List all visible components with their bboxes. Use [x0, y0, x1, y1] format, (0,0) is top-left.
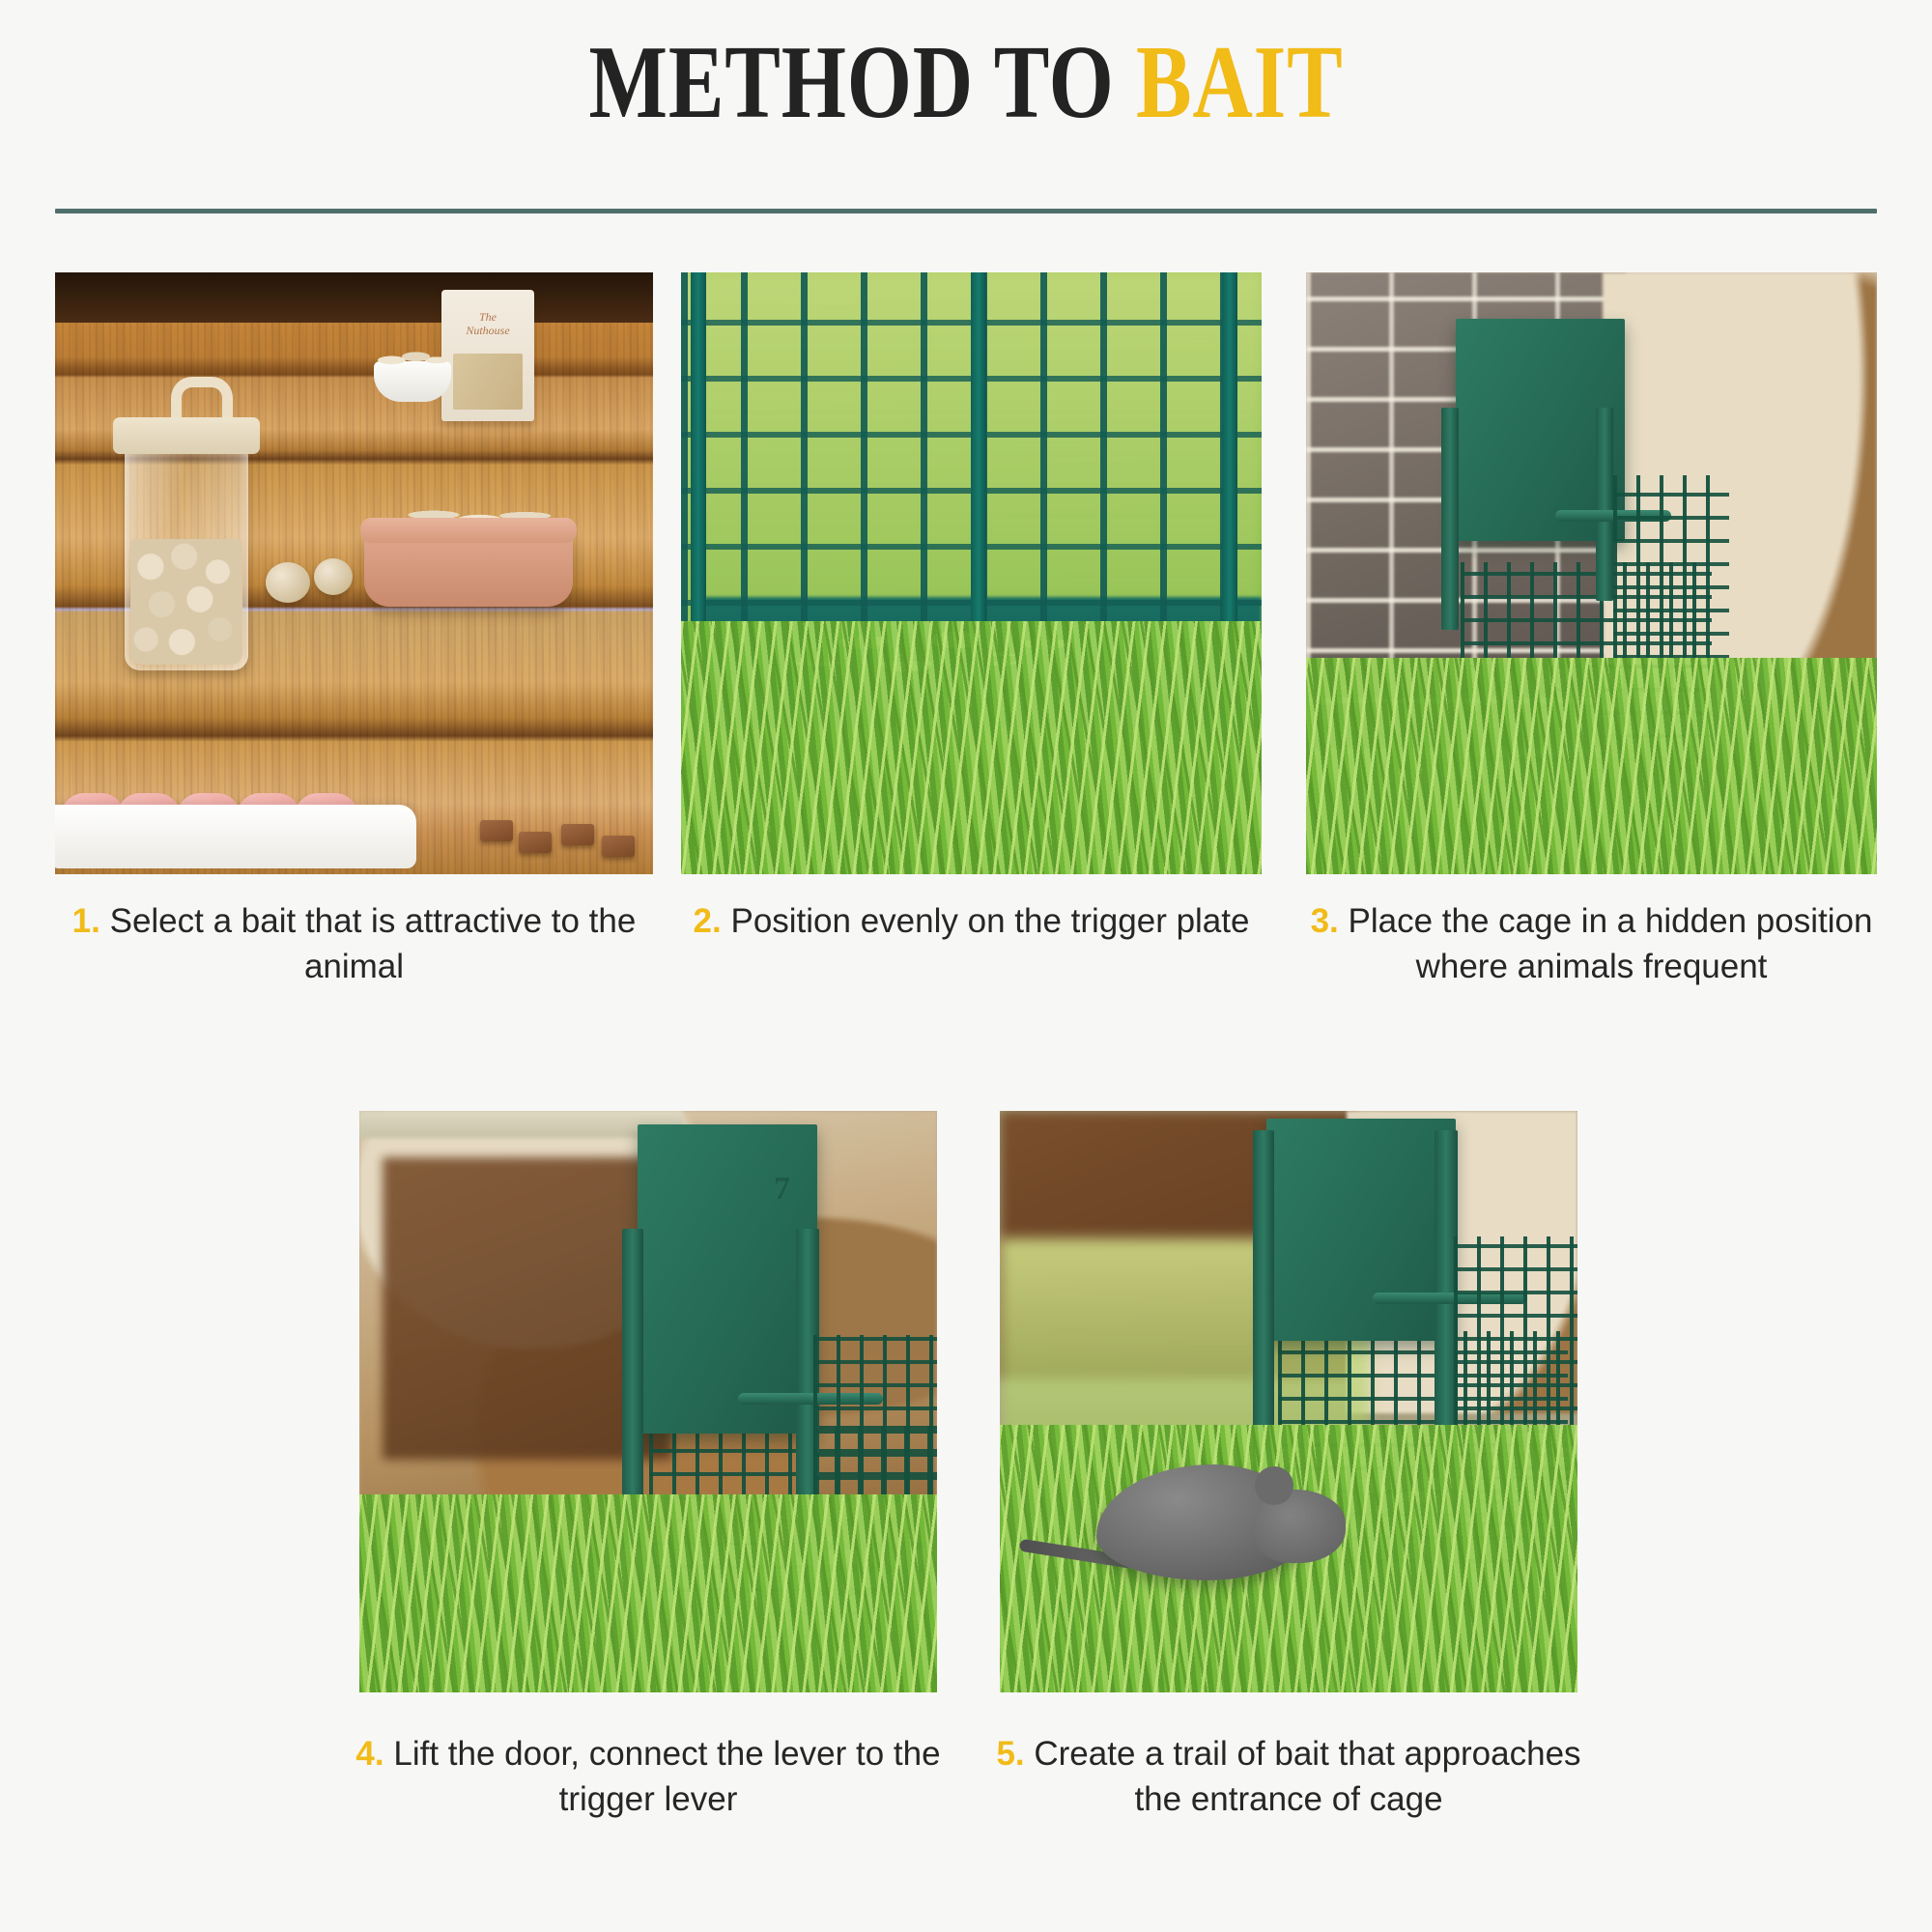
nut-pouch: TheNuthouse: [441, 290, 534, 421]
step-image-5: [1000, 1111, 1577, 1692]
step-text-1: Select a bait that is attractive to the …: [110, 902, 637, 985]
cage-side-mesh: [1613, 475, 1729, 659]
rat-ear: [1255, 1466, 1293, 1505]
terracotta-bowl: [364, 531, 573, 607]
nut-pouch-label: TheNuthouse: [441, 311, 534, 338]
step-image-2: [681, 272, 1262, 874]
step-image-1: TheNuthouse: [55, 272, 653, 874]
step-image-4: 7: [359, 1111, 937, 1692]
step-image-3: [1306, 272, 1877, 874]
photo-bait-trail: [1000, 1111, 1577, 1692]
trap-door-panel: [1266, 1119, 1456, 1341]
top-shadow: [55, 272, 653, 323]
page-title-primary: METHOD TO: [589, 25, 1115, 140]
step-caption-1: 1. Select a bait that is attractive to t…: [55, 898, 653, 990]
glass-jar: [125, 446, 248, 670]
loose-nut: [266, 562, 310, 603]
grass-blades: [681, 621, 1262, 874]
page-title-accent: BAIT: [1136, 25, 1343, 140]
foreground-grass: [1306, 658, 1877, 874]
chocolate-piece: [561, 824, 594, 845]
jar-lid: [113, 417, 260, 454]
door-rail: [1441, 408, 1459, 630]
step-caption-4: 4. Lift the door, connect the lever to t…: [330, 1731, 966, 1823]
header-divider: [55, 209, 1877, 213]
loose-nut: [314, 558, 353, 595]
foreground-grass: [681, 621, 1262, 874]
step-caption-5: 5. Create a trail of bait that approache…: [990, 1731, 1587, 1823]
step-number-4: 4.: [355, 1735, 384, 1773]
foreground-grass: [359, 1494, 937, 1692]
step-text-2: Position evenly on the trigger plate: [730, 902, 1249, 940]
chocolate-piece: [480, 820, 513, 841]
wall-ledge: [359, 1111, 683, 1138]
white-tray: [55, 805, 416, 868]
nut-pouch-window: [453, 354, 523, 410]
step-number-3: 3.: [1311, 902, 1339, 940]
bowl-nuts: [378, 344, 447, 367]
step-number-1: 1.: [72, 902, 100, 940]
bowl-rim: [360, 518, 577, 543]
step-caption-3: 3. Place the cage in a hidden position w…: [1306, 898, 1877, 990]
chocolate-piece: [602, 836, 635, 857]
photo-hidden-placement: [1306, 272, 1877, 874]
photo-bait-selection: TheNuthouse: [55, 272, 653, 874]
jar-pistachios: [130, 539, 242, 665]
page-title: METHOD TO BAIT: [193, 25, 1739, 142]
trap-door-panel: 7: [638, 1124, 817, 1434]
step-text-4: Lift the door, connect the lever to the …: [393, 1735, 940, 1818]
step-text-5: Create a trail of bait that approaches t…: [1034, 1735, 1580, 1818]
photo-trigger-plate: [681, 272, 1262, 874]
step-text-3: Place the cage in a hidden position wher…: [1349, 902, 1873, 985]
page-header: METHOD TO BAIT: [0, 25, 1932, 142]
small-white-bowl: [374, 361, 451, 402]
step-number-2: 2.: [694, 902, 722, 940]
door-number-label: 7: [774, 1171, 790, 1207]
door-rail: [1596, 408, 1613, 601]
chocolate-piece: [519, 832, 552, 853]
step-caption-2: 2. Position evenly on the trigger plate: [681, 898, 1262, 944]
grass-blades: [359, 1494, 937, 1692]
step-number-5: 5.: [996, 1735, 1024, 1773]
grass-blades: [1306, 658, 1877, 874]
photo-set-door: 7: [359, 1111, 937, 1692]
